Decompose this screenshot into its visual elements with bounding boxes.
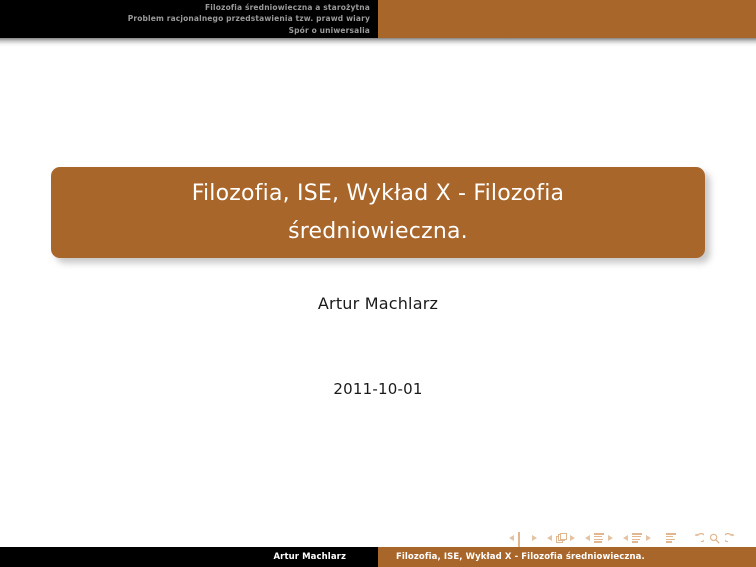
search-magnifier-icon[interactable] — [709, 533, 720, 544]
header-drop-shadow — [0, 38, 756, 47]
presentation-next-arrow-icon[interactable] — [646, 535, 651, 541]
presentation-navigation-group[interactable] — [623, 533, 651, 544]
footer-author-section: Artur Machlarz — [0, 547, 378, 567]
footer-title-section: Filozofia, ISE, Wykład X - Filozofia śre… — [378, 547, 756, 567]
footer-title: Filozofia, ISE, Wykład X - Filozofia śre… — [396, 552, 645, 562]
beamer-navigation-symbols[interactable] — [509, 530, 748, 546]
footer-author: Artur Machlarz — [273, 552, 346, 562]
header-nav-line-1[interactable]: Filozofia średniowieczna a starożytna — [205, 2, 370, 13]
header-nav-titles: Filozofia średniowieczna a starożytna Pr… — [0, 0, 378, 38]
header-nav-line-2[interactable]: Problem racjonalnego przedstawienia tzw.… — [128, 13, 370, 24]
frames-stack-icon[interactable] — [556, 533, 567, 544]
document-lines-icon[interactable] — [632, 533, 643, 544]
subsection-navigation-group[interactable] — [547, 533, 575, 544]
header-navigation-bar: Filozofia średniowieczna a starożytna Pr… — [0, 0, 756, 38]
frame-prev-arrow-icon[interactable] — [509, 535, 514, 541]
back-arc-icon[interactable] — [693, 533, 704, 544]
frame-navigation-group[interactable] — [509, 533, 537, 544]
author-name: Artur Machlarz — [0, 294, 756, 313]
slide-body: Filozofia, ISE, Wykład X - Filozofia śre… — [0, 47, 756, 537]
section-navigation-group[interactable] — [585, 533, 613, 544]
appendix-navigation-group[interactable] — [665, 533, 676, 544]
title-line-1: Filozofia, ISE, Wykład X - Filozofia — [192, 175, 565, 213]
title-text: Filozofia, ISE, Wykład X - Filozofia śre… — [192, 175, 565, 251]
forward-arc-icon[interactable] — [725, 533, 736, 544]
title-block: Filozofia, ISE, Wykład X - Filozofia śre… — [51, 167, 705, 258]
title-line-2: średniowieczna. — [192, 213, 565, 251]
footer-bar: Artur Machlarz Filozofia, ISE, Wykład X … — [0, 547, 756, 567]
presentation-slide: Filozofia średniowieczna a starożytna Pr… — [0, 0, 756, 567]
frame-icon[interactable] — [518, 533, 529, 544]
section-next-arrow-icon[interactable] — [608, 535, 613, 541]
section-prev-arrow-icon[interactable] — [585, 535, 590, 541]
section-lines-icon[interactable] — [594, 533, 605, 544]
header-accent-block — [378, 0, 756, 38]
subsection-next-arrow-icon[interactable] — [570, 535, 575, 541]
subsection-prev-arrow-icon[interactable] — [547, 535, 552, 541]
header-nav-line-3[interactable]: Spór o uniwersalia — [289, 25, 370, 36]
appendix-lines-icon[interactable] — [665, 533, 676, 544]
title-box: Filozofia, ISE, Wykład X - Filozofia śre… — [51, 167, 705, 258]
presentation-date: 2011-10-01 — [0, 380, 756, 398]
history-navigation-group[interactable] — [690, 533, 738, 544]
presentation-prev-arrow-icon[interactable] — [623, 535, 628, 541]
frame-next-arrow-icon[interactable] — [532, 535, 537, 541]
